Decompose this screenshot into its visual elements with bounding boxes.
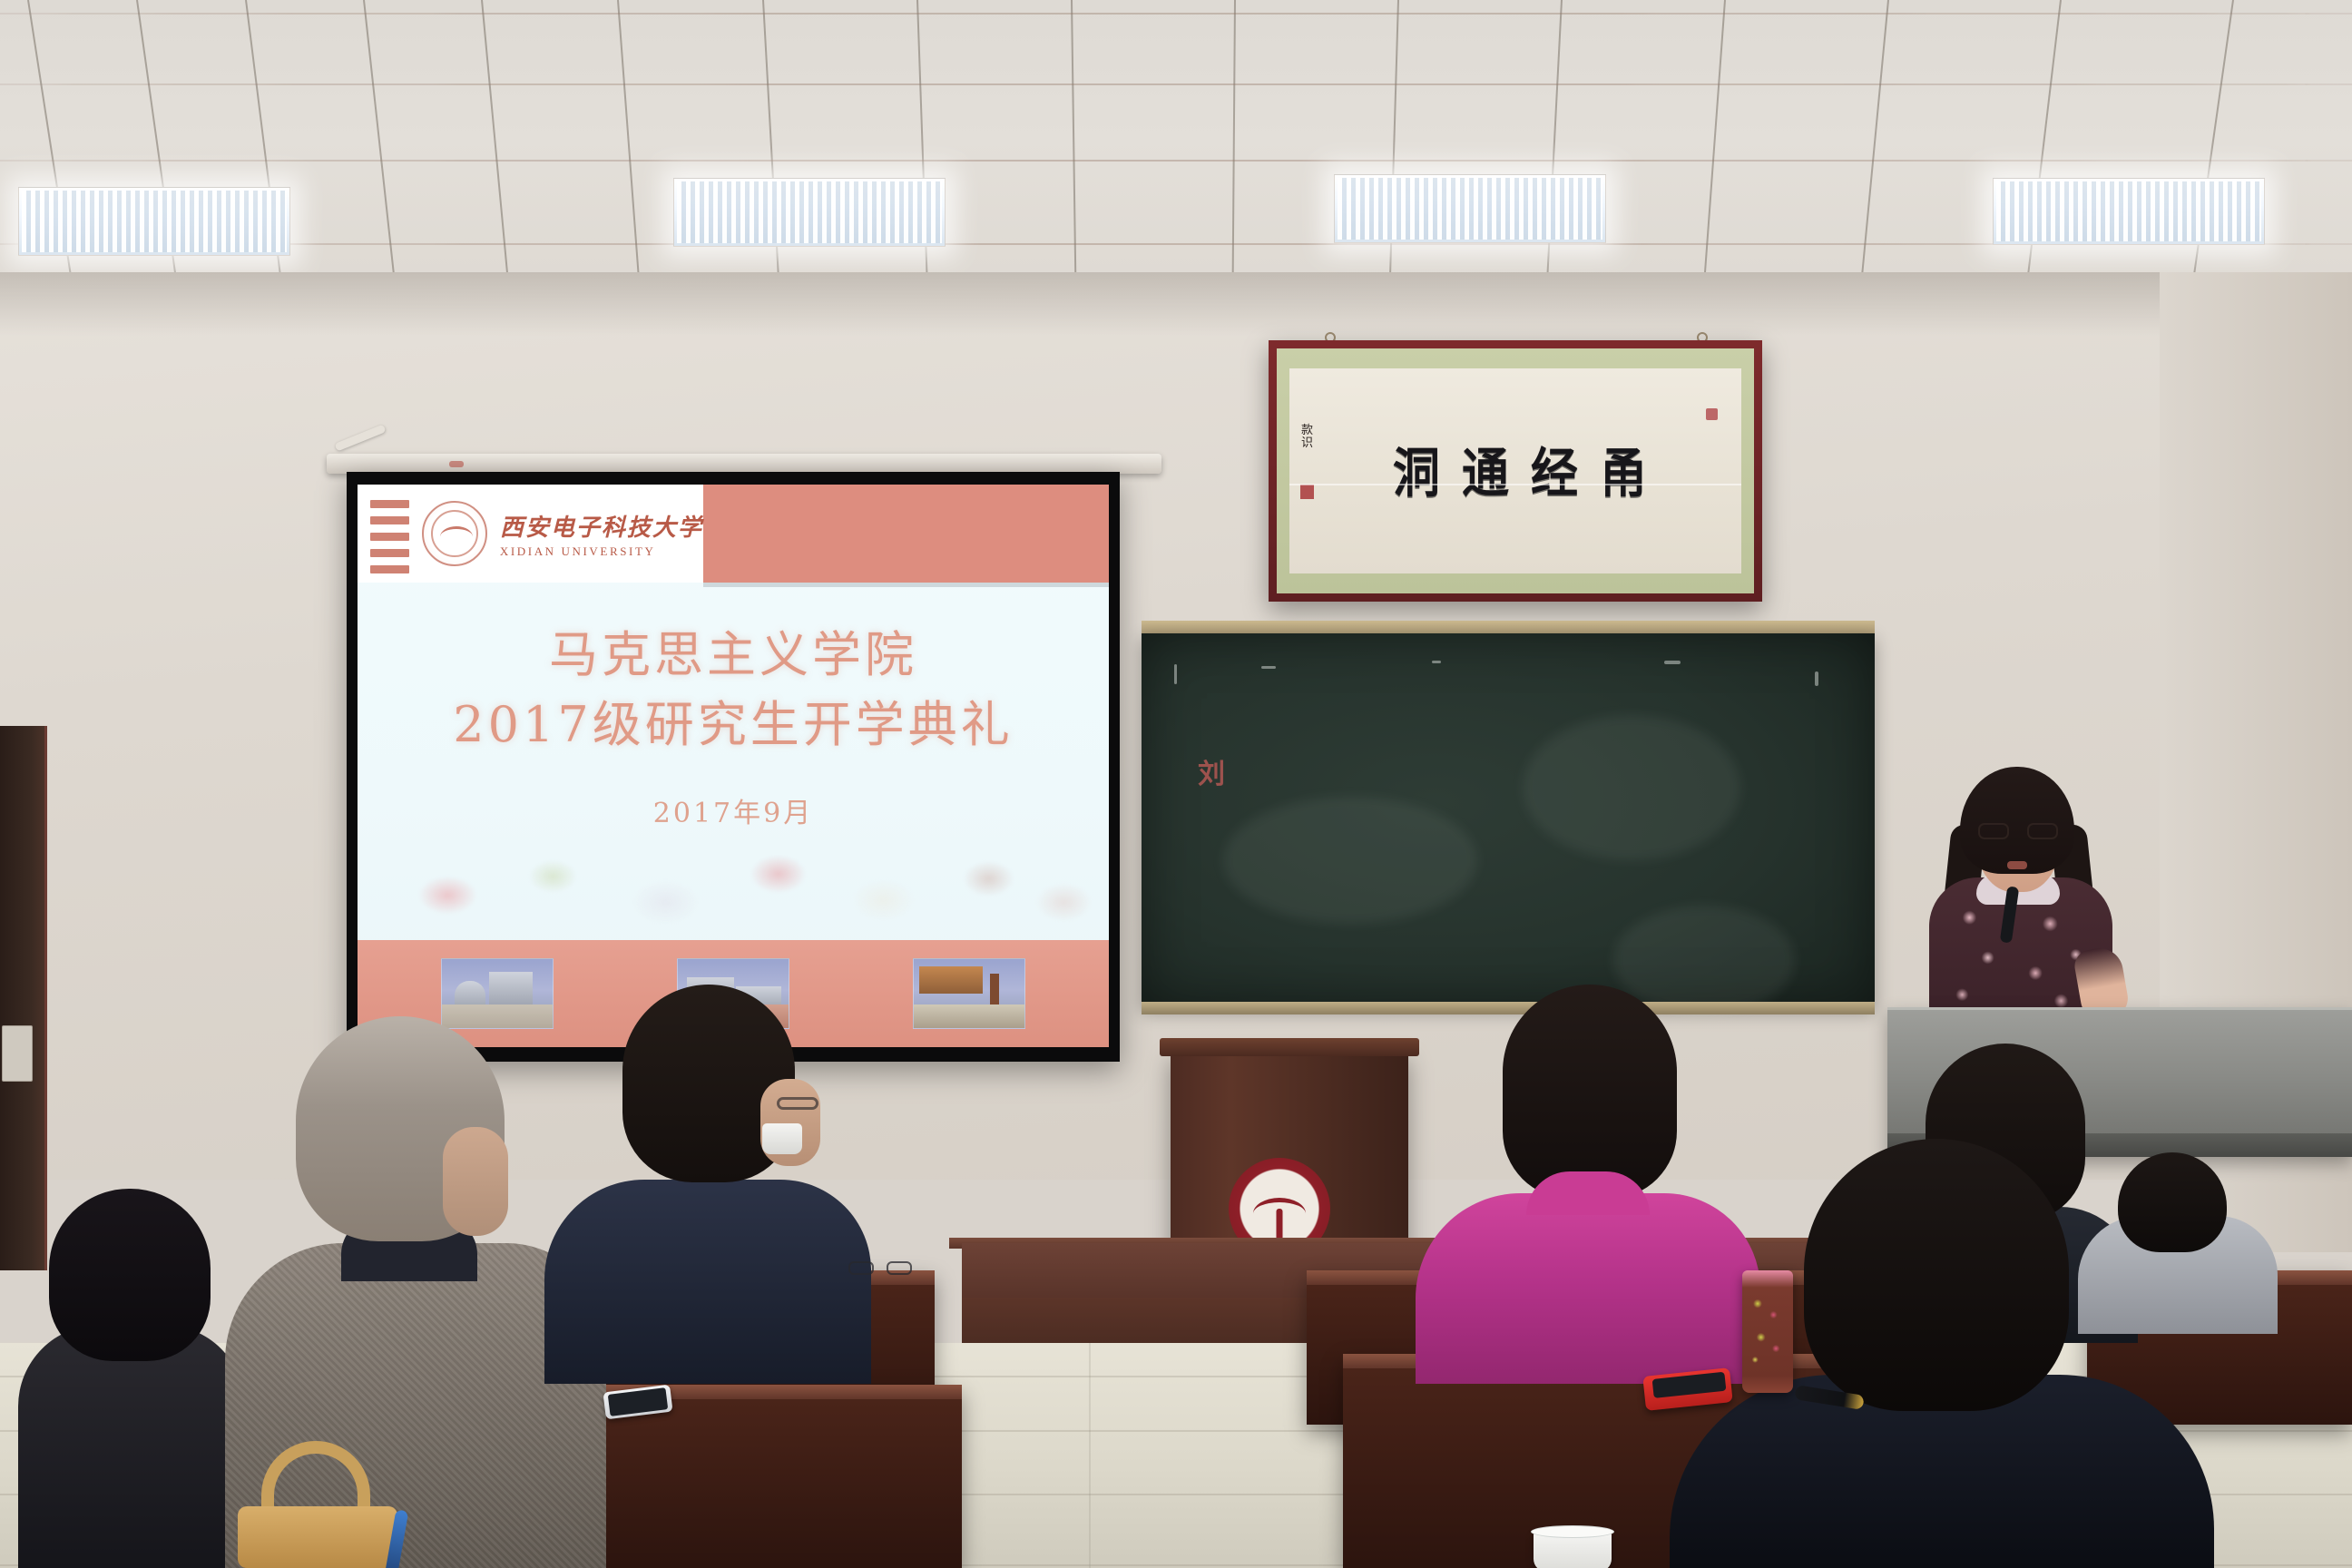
person-navy-torso [544, 1180, 871, 1384]
university-name-cn: 西安电子科技大学 [500, 509, 703, 543]
ceiling-light-panel [18, 187, 290, 256]
ceiling-grid-line [916, 0, 929, 309]
ceiling-grid-line [1231, 0, 1236, 309]
stripes-decoration-icon [370, 495, 409, 573]
ceiling-grid-line [481, 0, 512, 308]
slide-header: 西安电子科技大学 XIDIAN UNIVERSITY [358, 485, 1109, 583]
audience-person-navy-shirt [544, 985, 871, 1384]
glasses-icon [777, 1097, 818, 1110]
calligraphy-characters: 洞通经甬 [1393, 430, 1669, 506]
ceiling-grid-line [1701, 0, 1726, 308]
ceiling [0, 0, 2352, 309]
wall-top-shadow [0, 272, 2352, 336]
projection-screen: 西安电子科技大学 XIDIAN UNIVERSITY 马克思主义学院 2017级… [347, 472, 1120, 1062]
eyeglasses-on-desk[interactable] [848, 1261, 912, 1276]
ceiling-grid-line [1071, 0, 1077, 309]
podium-top-surface [1160, 1038, 1419, 1056]
ceiling-light-panel [673, 178, 946, 247]
slide-title-line-2: 2017级研究生开学典礼 [358, 691, 1109, 760]
roller-label-dot [449, 461, 464, 467]
artist-seal-icon [1300, 485, 1314, 499]
university-seal-icon [422, 501, 487, 566]
calligraphy-signature: 款识 [1301, 425, 1316, 449]
speaker-glasses-icon [1978, 823, 2058, 839]
white-cup[interactable] [762, 1123, 802, 1154]
white-paper-cup[interactable] [1534, 1530, 1612, 1568]
ceiling-grid-line [1858, 0, 1889, 308]
calligraphy-paper: 款识 洞通经甬 [1289, 368, 1741, 573]
floor-tile-line [1089, 1343, 1091, 1568]
person-head [1804, 1139, 2069, 1411]
speaker-person [1916, 767, 2125, 1030]
campus-photo-3 [913, 958, 1025, 1029]
blackboard: 刘 [1142, 633, 1875, 1007]
university-logo-text: 西安电子科技大学 XIDIAN UNIVERSITY [500, 509, 703, 559]
floral-decoration [358, 822, 1109, 940]
ceiling-grid-line [245, 0, 285, 306]
ceiling-grid-line [136, 0, 181, 306]
tan-handbag[interactable] [238, 1506, 397, 1568]
speaker-hair [1960, 767, 2074, 874]
ceiling-grid-line [1545, 0, 1563, 309]
slide-header-left: 西安电子科技大学 XIDIAN UNIVERSITY [358, 485, 703, 583]
ceiling-grid-line [27, 0, 76, 305]
slide-title-line-1: 马克思主义学院 [358, 621, 1109, 691]
frame-mat: 款识 洞通经甬 [1277, 348, 1754, 593]
screen-mount-bracket [334, 426, 397, 457]
ceiling-grid-line [0, 83, 2352, 85]
classroom-ceremony-scene: 西安电子科技大学 XIDIAN UNIVERSITY 马克思主义学院 2017级… [0, 0, 2352, 1568]
ceiling-grid-line [2189, 0, 2234, 306]
person-head [1503, 985, 1677, 1199]
person-ear-neck [443, 1127, 508, 1236]
ceiling-grid-line [762, 0, 781, 309]
person-head [49, 1189, 211, 1361]
audience-person-far-left [18, 1189, 245, 1568]
ceiling-grid-line [2024, 0, 2062, 307]
calligraphy-frame: 款识 洞通经甬 [1269, 340, 1762, 602]
ceiling-grid-line [363, 0, 398, 307]
light-switch-plate[interactable] [2, 1025, 33, 1082]
slide-header-underline [703, 583, 1109, 587]
speaker-mouth [2007, 861, 2027, 869]
ceiling-grid-line [617, 0, 642, 308]
ceiling-grid-line [0, 160, 2352, 162]
ceiling-grid-line [1388, 0, 1399, 309]
corner-seal-icon [1706, 408, 1718, 420]
university-name-en: XIDIAN UNIVERSITY [500, 544, 703, 559]
person-torso [18, 1325, 245, 1568]
ceiling-light-panel [1334, 174, 1606, 243]
slide-header-band [703, 485, 1109, 583]
paper-crease [1289, 484, 1741, 485]
ceiling-grid-line [0, 13, 2352, 15]
blackboard-chalk-text: 刘 [1198, 751, 1225, 791]
presentation-slide: 西安电子科技大学 XIDIAN UNIVERSITY 马克思主义学院 2017级… [358, 485, 1109, 1047]
ceiling-light-panel [1993, 178, 2265, 245]
slide-title-block: 马克思主义学院 2017级研究生开学典礼 2017年9月 [358, 621, 1109, 830]
decorated-water-bottle[interactable] [1742, 1270, 1793, 1393]
